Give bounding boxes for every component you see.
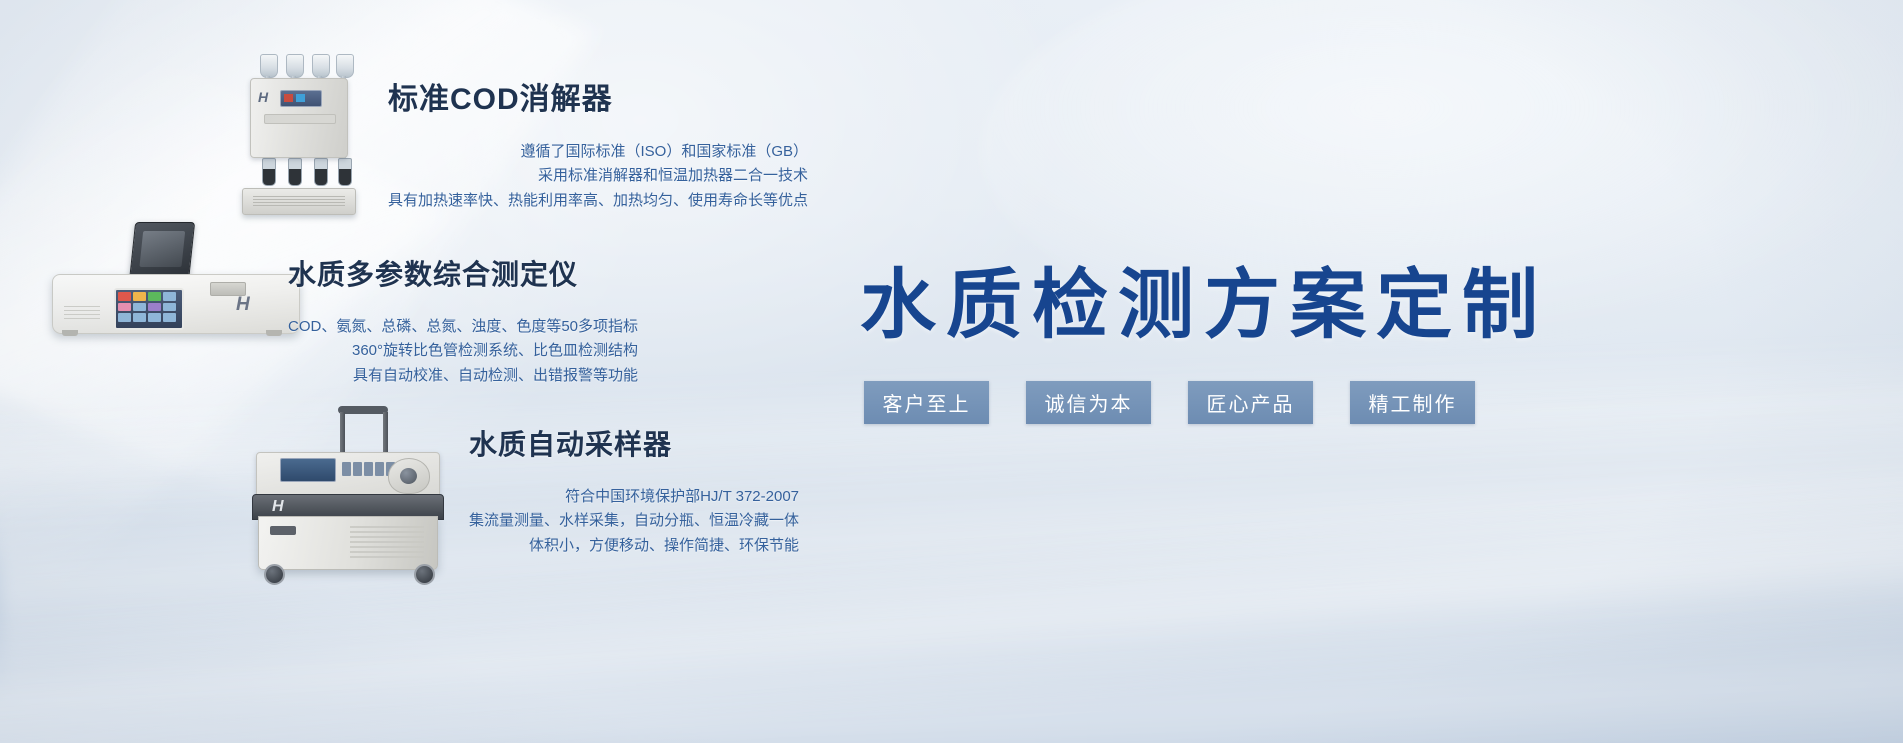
product-description-line: 采用标准消解器和恒温加热器二合一技术 (388, 164, 808, 188)
product-description-line: 符合中国环境保护部HJ/T 372-2007 (469, 485, 799, 509)
analyzer-keypad (118, 292, 176, 322)
digester-display (280, 90, 322, 107)
sampler-latch (270, 526, 296, 535)
brand-mark-icon: H (272, 498, 284, 516)
product-description-line: 遵循了国际标准（ISO）和国家标准（GB） (388, 140, 808, 164)
slogan-badge[interactable]: 匠心产品 (1188, 381, 1313, 424)
slogan-badge[interactable]: 精工制作 (1350, 381, 1475, 424)
sampler-handle-bar (340, 412, 345, 456)
brand-mark-icon: H (258, 89, 272, 105)
sampler-handle (338, 406, 388, 414)
digester-heating-base (242, 188, 356, 215)
banner-headline: 水质检测方案定制 (860, 243, 1548, 353)
product-block-cod-digester: 标准COD消解器 遵循了国际标准（ISO）和国家标准（GB） 采用标准消解器和恒… (388, 74, 808, 213)
wave-decoration (0, 600, 1903, 743)
sampler-peristaltic-pump (388, 458, 430, 494)
analyzer-foot (62, 330, 78, 336)
product-block-auto-water-sampler: 水质自动采样器 符合中国环境保护部HJ/T 372-2007 集流量测量、水样采… (469, 423, 799, 558)
analyzer-foot (266, 330, 282, 336)
analyzer-lid (129, 222, 195, 282)
product-title: 水质多参数综合测定仪 (288, 253, 638, 293)
auto-water-sampler-icon: H (246, 406, 446, 581)
product-description-line: 360°旋转比色管检测系统、比色皿检测结构 (288, 339, 638, 363)
product-description: 符合中国环境保护部HJ/T 372-2007 集流量测量、水样采集，自动分瓶、恒… (469, 485, 799, 558)
slogan-badge-list: 客户至上 诚信为本 匠心产品 精工制作 (864, 381, 1475, 424)
promo-banner: H H H 标准COD消解器 (0, 0, 1903, 743)
brand-mark-icon: H (236, 294, 250, 316)
product-description-line: COD、氨氮、总磷、总氮、浊度、色度等50多项指标 (288, 315, 638, 339)
analyzer-vent (64, 306, 100, 320)
sampler-wheel (414, 564, 435, 585)
product-description: COD、氨氮、总磷、总氮、浊度、色度等50多项指标 360°旋转比色管检测系统、… (288, 315, 638, 388)
product-title: 标准COD消解器 (388, 74, 808, 118)
product-description-line: 具有加热速率快、热能利用率高、加热均匀、使用寿命长等优点 (388, 189, 808, 213)
sampler-wheel (264, 564, 285, 585)
sampler-display (280, 458, 336, 482)
product-description-line: 体积小，方便移动、操作简捷、环保节能 (469, 534, 799, 558)
cod-digester-icon: H (238, 48, 358, 213)
product-description-line: 集流量测量、水样采集，自动分瓶、恒温冷藏一体 (469, 509, 799, 533)
multi-parameter-analyzer-icon: H (50, 222, 300, 342)
slogan-badge[interactable]: 客户至上 (864, 381, 989, 424)
product-description-line: 具有自动校准、自动检测、出错报警等功能 (288, 364, 638, 388)
product-description: 遵循了国际标准（ISO）和国家标准（GB） 采用标准消解器和恒温加热器二合一技术… (388, 140, 808, 213)
product-block-multi-parameter-analyzer: 水质多参数综合测定仪 COD、氨氮、总磷、总氮、浊度、色度等50多项指标 360… (288, 253, 638, 388)
sampler-grill (350, 526, 424, 560)
digester-control-strip (264, 114, 336, 124)
product-title: 水质自动采样器 (469, 423, 799, 463)
slogan-badge[interactable]: 诚信为本 (1026, 381, 1151, 424)
sampler-handle-bar (383, 412, 388, 456)
